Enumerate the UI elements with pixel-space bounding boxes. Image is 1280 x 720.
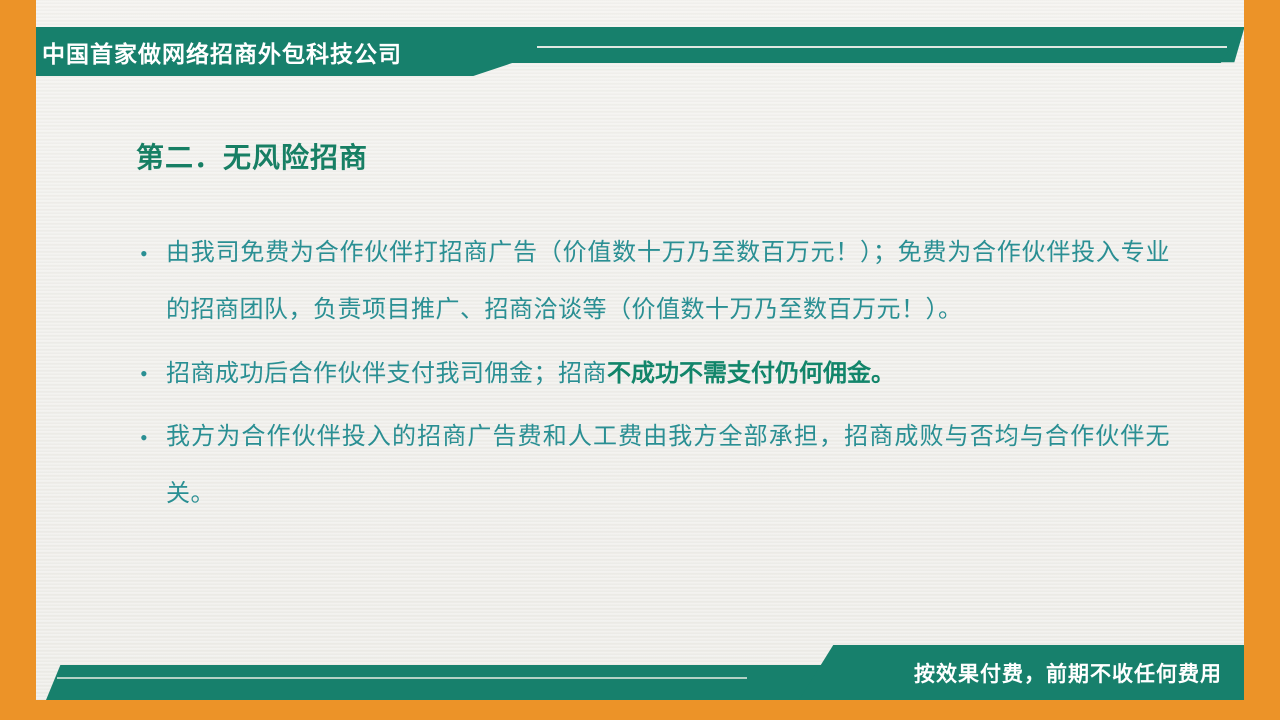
bullet-marker-icon: • <box>140 409 166 466</box>
header-divider-line <box>537 46 1227 48</box>
bullet-text: 招商成功后合作伙伴支付我司佣金；招商不成功不需支付仍何佣金。 <box>166 345 1170 403</box>
bullet-text-segment: 我方为合作伙伴投入的招商广告费和人工费由我方全部承担，招商成败与否均与合作伙伴无… <box>166 424 1170 507</box>
bullet-item: •由我司免费为合作伙伴打招商广告（价值数十万乃至数百万元！）；免费为合作伙伴投入… <box>140 225 1170 339</box>
header-title: 中国首家做网络招商外包科技公司 <box>36 27 402 76</box>
slide-canvas: 中国首家做网络招商外包科技公司 第二．无风险招商 •由我司免费为合作伙伴打招商广… <box>0 0 1280 720</box>
footer-tagline: 按效果付费，前期不收任何费用 <box>914 645 1244 700</box>
bullet-text-segment: 由我司免费为合作伙伴打招商广告（价值数十万乃至数百万元！）；免费为合作伙伴投入专… <box>166 240 1170 323</box>
bullet-item: •我方为合作伙伴投入的招商广告费和人工费由我方全部承担，招商成败与否均与合作伙伴… <box>140 409 1170 523</box>
footer-divider-line <box>57 677 747 679</box>
bullet-item: •招商成功后合作伙伴支付我司佣金；招商不成功不需支付仍何佣金。 <box>140 345 1170 403</box>
header-band-tail <box>470 27 1244 63</box>
page-title: 第二．无风险招商 <box>136 136 368 176</box>
bullet-text: 由我司免费为合作伙伴打招商广告（价值数十万乃至数百万元！）；免费为合作伙伴投入专… <box>166 225 1170 339</box>
bullet-text: 我方为合作伙伴投入的招商广告费和人工费由我方全部承担，招商成败与否均与合作伙伴无… <box>166 409 1170 523</box>
bullet-marker-icon: • <box>140 345 166 402</box>
bullet-text-emphasis: 不成功不需支付仍何佣金。 <box>607 360 895 387</box>
bullet-text-segment: 招商成功后合作伙伴支付我司佣金；招商 <box>166 361 607 387</box>
bullet-marker-icon: • <box>140 225 166 282</box>
bullet-list: •由我司免费为合作伙伴打招商广告（价值数十万乃至数百万元！）；免费为合作伙伴投入… <box>140 225 1170 529</box>
